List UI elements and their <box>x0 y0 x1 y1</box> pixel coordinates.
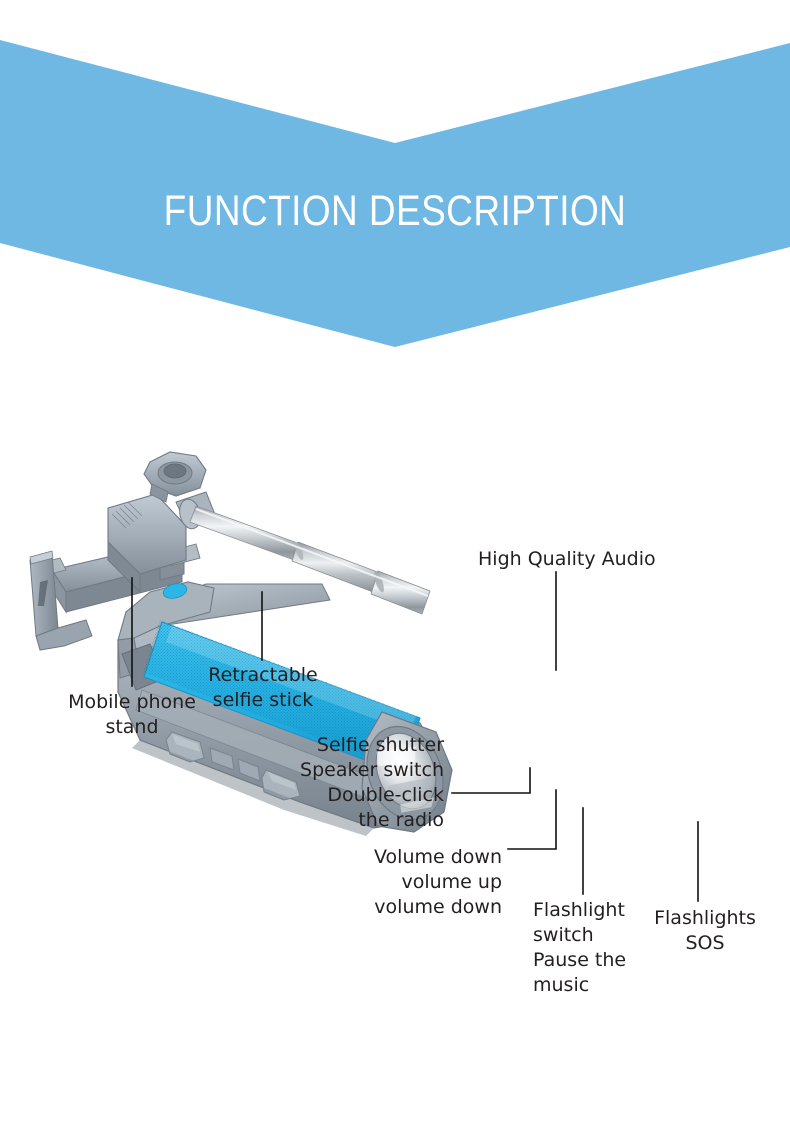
speaker-rear-fin <box>22 648 58 682</box>
page-title: FUNCTION DESCRIPTION <box>55 186 734 236</box>
callout-selfie-shutter: Selfie shutter Speaker switch Double-cli… <box>258 733 444 833</box>
callout-flashlights-sos: Flashlights SOS <box>637 906 773 956</box>
product-feature-page: FUNCTION DESCRIPTION <box>0 0 790 1138</box>
thumb-screw-knob <box>144 452 206 502</box>
callout-high-quality-audio: High Quality Audio <box>478 547 708 572</box>
callout-volume-controls: Volume down volume up volume down <box>332 845 502 920</box>
header-banner <box>0 0 790 360</box>
header-chevron-shape <box>0 0 790 360</box>
callout-flashlight-switch: Flashlight switch Pause the music <box>533 898 653 998</box>
callout-mobile-phone-stand: Mobile phone stand <box>52 690 212 740</box>
